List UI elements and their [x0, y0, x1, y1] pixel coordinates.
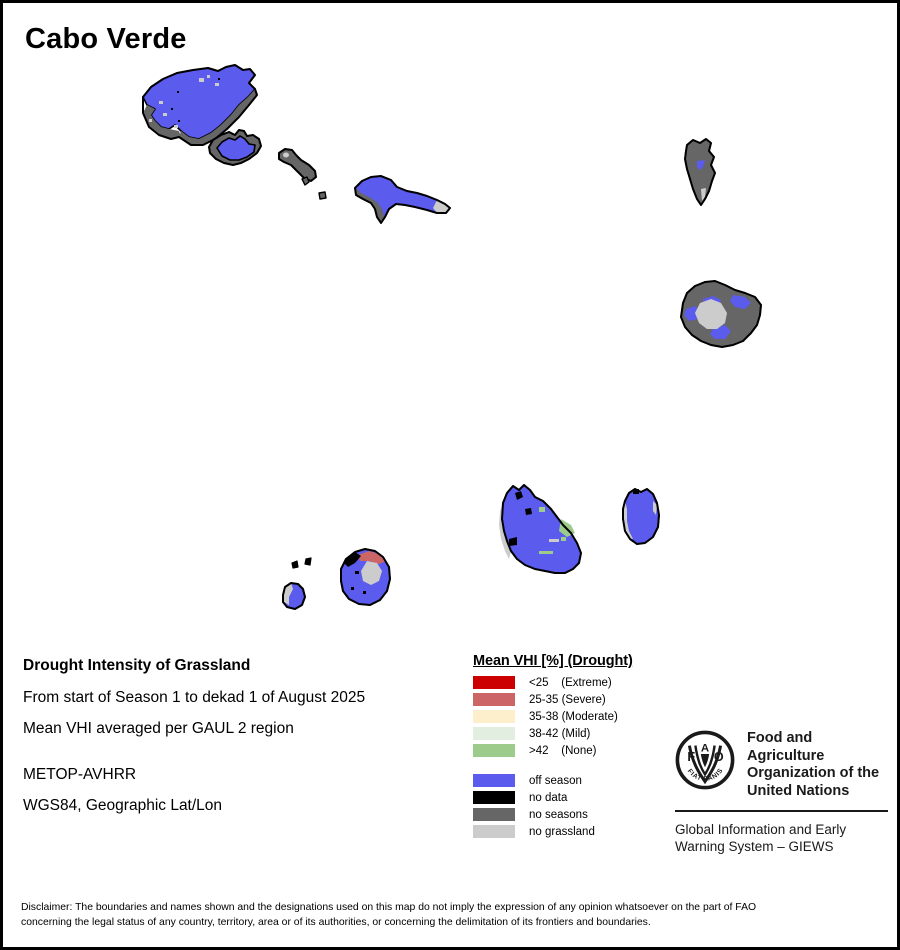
island-fogo: [341, 549, 390, 605]
svg-text:F: F: [687, 750, 695, 764]
disclaimer-line2: concerning the legal status of any count…: [21, 915, 883, 930]
legend-label-off-season: off season: [529, 775, 582, 787]
fao-organization-name: Food and Agriculture Organization of the…: [747, 730, 890, 801]
legend-swatch-none: [473, 744, 515, 757]
fao-giews-label: Global Information and Early Warning Sys…: [675, 821, 890, 856]
map-page: Cabo Verde: [0, 0, 900, 950]
info-line-aggregation: Mean VHI averaged per GAUL 2 region: [23, 721, 453, 737]
legend-row-off-season: off season: [473, 773, 673, 788]
legend-label-no-data: no data: [529, 792, 567, 804]
island-santiago: [499, 485, 581, 573]
disclaimer-line1: Disclaimer: The boundaries and names sho…: [21, 900, 883, 915]
disclaimer: Disclaimer: The boundaries and names sho…: [21, 900, 883, 930]
svg-text:A: A: [701, 743, 709, 755]
legend-label-moderate: 35-38 (Moderate): [529, 711, 618, 723]
fao-org-line2: Organization of the: [747, 765, 890, 783]
fao-logo-icon: F A O FIAT PANIS: [675, 730, 735, 790]
info-spacer: [23, 753, 453, 767]
island-boa-vista: [681, 281, 761, 347]
fao-branding-block: F A O FIAT PANIS Food and Agriculture Or…: [675, 730, 890, 856]
legend-row-no-data: no data: [473, 790, 673, 805]
fao-org-line3: United Nations: [747, 783, 890, 801]
island-maio: [623, 489, 659, 544]
island-sao-nicolau: [355, 176, 450, 223]
legend-swatch-no-grassland: [473, 825, 515, 838]
legend-row-moderate: 35-38 (Moderate): [473, 709, 673, 724]
fao-logo-row: F A O FIAT PANIS Food and Agriculture Or…: [675, 730, 890, 801]
island-brava: [283, 558, 311, 609]
fao-sub-line1: Global Information and Early: [675, 821, 890, 839]
legend-row-none: >42 (None): [473, 743, 673, 758]
legend-swatch-off-season: [473, 774, 515, 787]
info-line-period: From start of Season 1 to dekad 1 of Aug…: [23, 690, 453, 706]
info-line-projection: WGS84, Geographic Lat/Lon: [23, 798, 453, 814]
legend-row-no-grassland: no grassland: [473, 824, 673, 839]
fao-sub-line2: Warning System – GIEWS: [675, 838, 890, 856]
legend-swatch-moderate: [473, 710, 515, 723]
legend-title: Mean VHI [%] (Drought): [473, 653, 673, 669]
fao-divider: [675, 810, 888, 812]
legend-label-none: >42 (None): [529, 745, 596, 757]
legend-row-severe: 25-35 (Severe): [473, 692, 673, 707]
legend-swatch-no-data: [473, 791, 515, 804]
legend-swatch-mild: [473, 727, 515, 740]
legend-label-extreme: <25 (Extreme): [529, 677, 612, 689]
legend-swatch-extreme: [473, 676, 515, 689]
map-legend: Mean VHI [%] (Drought) <25 (Extreme) 25-…: [473, 653, 673, 841]
info-line-sensor: METOP-AVHRR: [23, 767, 453, 783]
legend-row-extreme: <25 (Extreme): [473, 675, 673, 690]
islets-branco-raso: [302, 177, 326, 199]
legend-label-mild: 38-42 (Mild): [529, 728, 590, 740]
legend-swatch-severe: [473, 693, 515, 706]
map-info-block: Drought Intensity of Grassland From star…: [23, 658, 453, 830]
legend-swatch-no-seasons: [473, 808, 515, 821]
island-santa-luzia: [279, 149, 316, 181]
svg-text:O: O: [714, 750, 724, 764]
legend-separator: [473, 760, 673, 773]
island-sal: [685, 139, 715, 205]
fao-org-line1: Food and Agriculture: [747, 730, 890, 765]
info-line-title: Drought Intensity of Grassland: [23, 658, 453, 674]
legend-label-no-grassland: no grassland: [529, 826, 595, 838]
legend-row-no-seasons: no seasons: [473, 807, 673, 822]
legend-label-severe: 25-35 (Severe): [529, 694, 606, 706]
legend-label-no-seasons: no seasons: [529, 809, 588, 821]
legend-row-mild: 38-42 (Mild): [473, 726, 673, 741]
